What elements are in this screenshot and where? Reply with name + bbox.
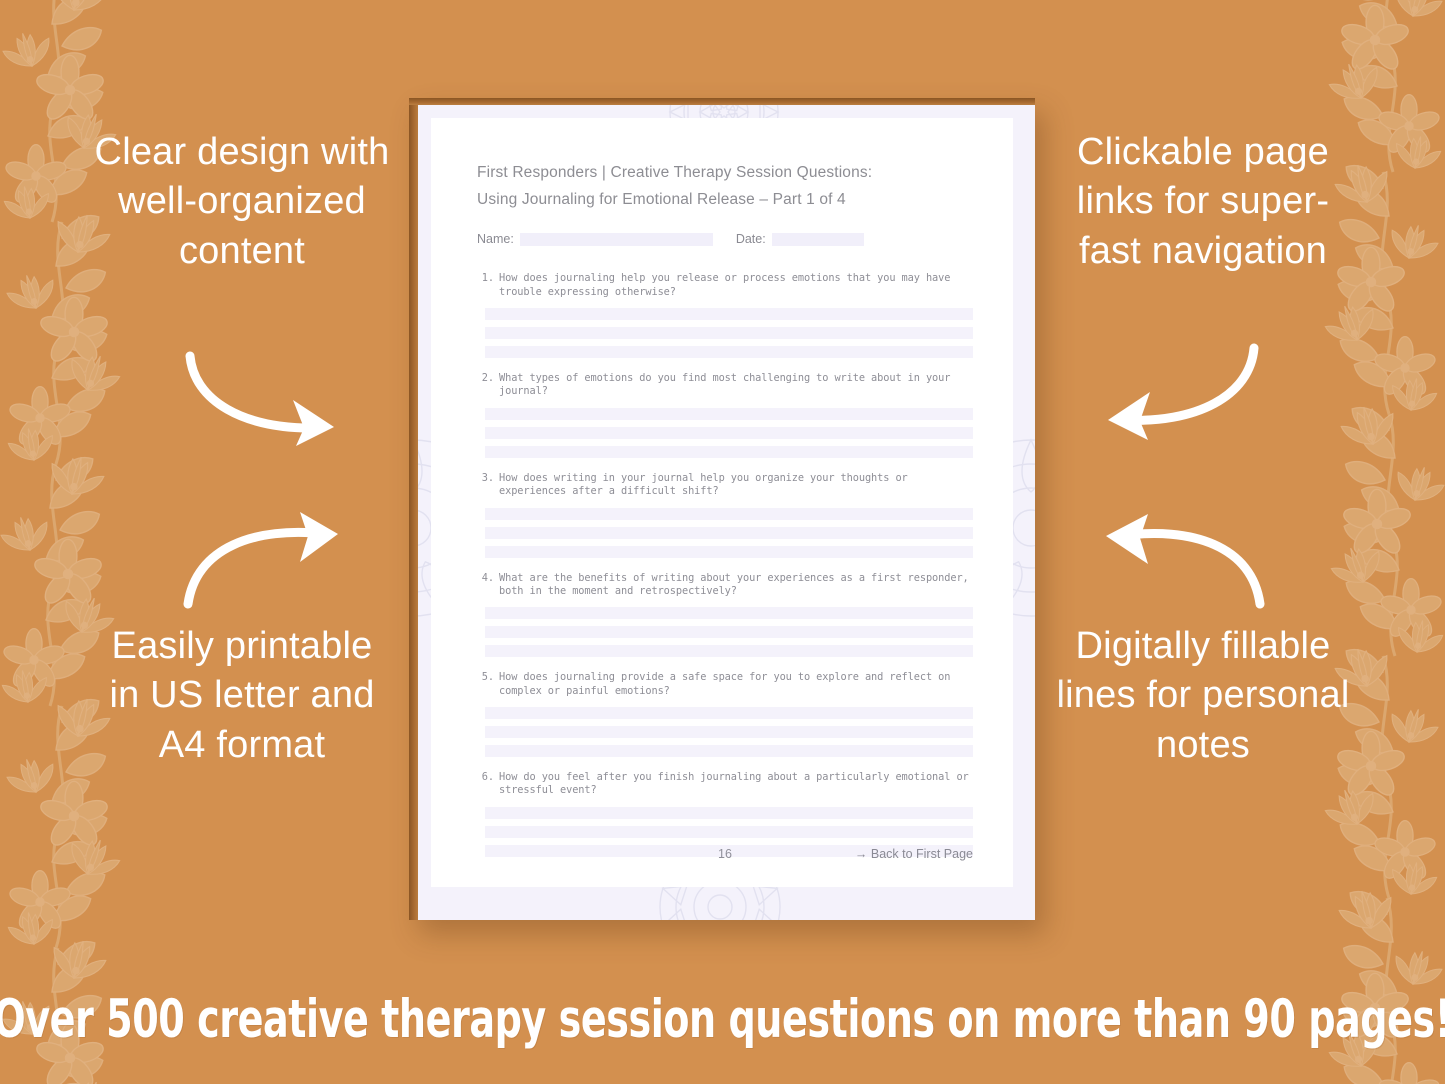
- curved-arrow-right-icon: [178, 348, 358, 458]
- question-row: 3.How does writing in your journal help …: [477, 472, 973, 499]
- banner-headline: Over 500 creative therapy session questi…: [0, 989, 1445, 1050]
- page-frame: First Responders | Creative Therapy Sess…: [409, 98, 1035, 920]
- question-number: 6.: [477, 771, 499, 798]
- answer-line[interactable]: [485, 527, 973, 539]
- question-number: 2.: [477, 372, 499, 399]
- question-row: 1.How does journaling help you release o…: [477, 272, 973, 299]
- promo-text-fillable-lines: Digitally fillable lines for personal no…: [1053, 622, 1353, 770]
- answer-lines: [477, 607, 973, 657]
- answer-line[interactable]: [485, 346, 973, 358]
- worksheet-sheet: First Responders | Creative Therapy Sess…: [431, 118, 1013, 887]
- question-row: 4.What are the benefits of writing about…: [477, 572, 973, 599]
- question-row: 2.What types of emotions do you find mos…: [477, 372, 973, 399]
- name-label: Name:: [477, 232, 514, 246]
- name-input[interactable]: [520, 233, 713, 246]
- question-text: How does writing in your journal help yo…: [499, 472, 973, 499]
- document-page[interactable]: First Responders | Creative Therapy Sess…: [409, 98, 1035, 920]
- answer-line[interactable]: [485, 807, 973, 819]
- question-item: 4.What are the benefits of writing about…: [477, 572, 973, 658]
- question-number: 4.: [477, 572, 499, 599]
- question-text: How does journaling help you release or …: [499, 272, 973, 299]
- answer-line[interactable]: [485, 546, 973, 558]
- answer-lines: [477, 508, 973, 558]
- question-item: 3.How does writing in your journal help …: [477, 472, 973, 558]
- answer-line[interactable]: [485, 408, 973, 420]
- answer-lines: [477, 308, 973, 358]
- date-label: Date:: [736, 232, 766, 246]
- page-left-accent-bar: [409, 98, 418, 920]
- poster-background: Clear design with well-organized content…: [0, 0, 1445, 1084]
- question-text: How does journaling provide a safe space…: [499, 671, 973, 698]
- curved-arrow-right-icon: [178, 508, 358, 618]
- back-to-first-page-link[interactable]: → Back to First Page: [855, 847, 973, 861]
- answer-line[interactable]: [485, 508, 973, 520]
- answer-line[interactable]: [485, 745, 973, 757]
- page-top-accent-bar: [409, 98, 1035, 105]
- answer-line[interactable]: [485, 826, 973, 838]
- name-date-row: Name: Date:: [477, 232, 973, 246]
- answer-line[interactable]: [485, 446, 973, 458]
- question-text: What are the benefits of writing about y…: [499, 572, 973, 599]
- date-input[interactable]: [772, 233, 864, 246]
- answer-line[interactable]: [485, 707, 973, 719]
- page-title-line-1: First Responders | Creative Therapy Sess…: [477, 160, 973, 187]
- question-list: 1.How does journaling help you release o…: [477, 272, 973, 857]
- answer-lines: [477, 408, 973, 458]
- answer-line[interactable]: [485, 645, 973, 657]
- curved-arrow-left-icon: [1088, 338, 1278, 448]
- answer-line[interactable]: [485, 308, 973, 320]
- promo-text-clear-design: Clear design with well-organized content: [92, 128, 392, 276]
- question-number: 5.: [477, 671, 499, 698]
- curved-arrow-left-icon: [1088, 508, 1278, 618]
- bottom-banner: Over 500 creative therapy session questi…: [0, 954, 1445, 1084]
- question-row: 5.How does journaling provide a safe spa…: [477, 671, 973, 698]
- answer-line[interactable]: [485, 427, 973, 439]
- question-number: 1.: [477, 272, 499, 299]
- answer-line[interactable]: [485, 626, 973, 638]
- question-text: What types of emotions do you find most …: [499, 372, 973, 399]
- question-item: 2.What types of emotions do you find mos…: [477, 372, 973, 458]
- question-item: 1.How does journaling help you release o…: [477, 272, 973, 358]
- answer-line[interactable]: [485, 607, 973, 619]
- promo-text-printable: Easily printable in US letter and A4 for…: [92, 622, 392, 770]
- promo-text-clickable-links: Clickable page links for super-fast navi…: [1053, 128, 1353, 276]
- question-text: How do you feel after you finish journal…: [499, 771, 973, 798]
- answer-line[interactable]: [485, 726, 973, 738]
- answer-line[interactable]: [485, 327, 973, 339]
- question-number: 3.: [477, 472, 499, 499]
- answer-lines: [477, 707, 973, 757]
- document-footer: 16 → Back to First Page: [477, 847, 973, 861]
- page-number: 16: [718, 847, 732, 861]
- question-item: 5.How does journaling provide a safe spa…: [477, 671, 973, 757]
- page-title-line-2: Using Journaling for Emotional Release –…: [477, 187, 973, 214]
- question-row: 6.How do you feel after you finish journ…: [477, 771, 973, 798]
- question-item: 6.How do you feel after you finish journ…: [477, 771, 973, 857]
